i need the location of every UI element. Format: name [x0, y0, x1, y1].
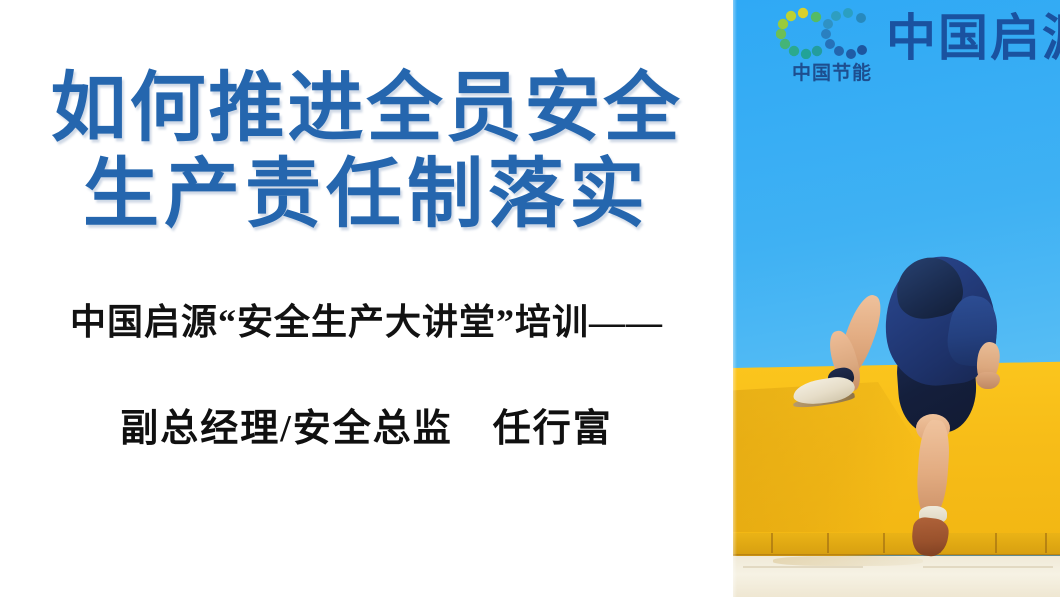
cecep-logo-icon [776, 7, 886, 59]
brand-logo-area: 中国节能 中国启源 [740, 2, 1060, 102]
slide-presenter: 副总经理/安全总监 任行富 [0, 405, 733, 453]
title-line-2: 生产责任制落实 [0, 152, 733, 238]
logo-brand-name: 中国启源 [886, 10, 1060, 66]
slide-subtitle: 中国启源“安全生产大讲堂”培训—— [0, 300, 733, 344]
person-hand [976, 372, 1000, 389]
presenter-text: 副总经理/安全总监 任行富 [0, 405, 733, 453]
photo-left-fade [733, 0, 737, 597]
subtitle-text: 中国启源“安全生产大讲堂”培训—— [0, 300, 733, 344]
person-upper-shoe [792, 374, 857, 407]
title-line-1: 如何推进全员安全 [0, 66, 733, 152]
presentation-slide: 如何推进全员安全 生产责任制落实 中国启源“安全生产大讲堂”培训—— 副总经理/… [0, 0, 1060, 597]
person-lower-shoe [910, 516, 950, 558]
logo-company-short-name: 中国节能 [776, 58, 888, 85]
slide-title: 如何推进全员安全 生产责任制落实 [0, 66, 733, 238]
slide-text-panel: 如何推进全员安全 生产责任制落实 中国启源“安全生产大讲堂”培训—— 副总经理/… [0, 0, 733, 597]
